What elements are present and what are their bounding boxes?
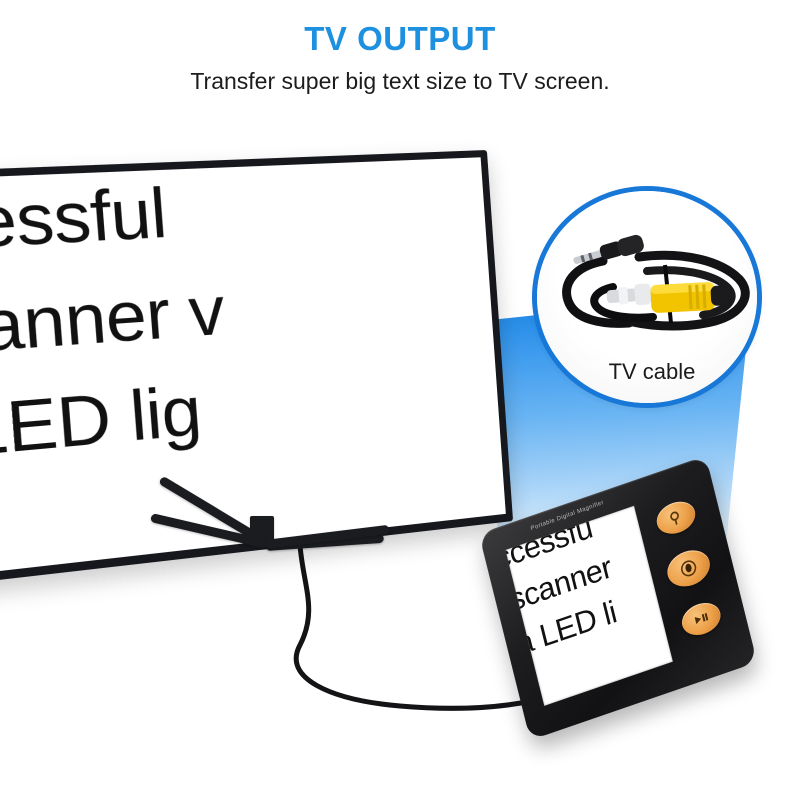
- play-pause-icon: [692, 610, 711, 629]
- page-subtitle: Transfer super big text size to TV scree…: [0, 69, 800, 94]
- tv-stand: [90, 516, 420, 606]
- magnifier-icon: [667, 507, 686, 528]
- tv-set: successful e scanner v ata LED lig: [0, 150, 520, 550]
- play-pause-button[interactable]: [679, 598, 724, 640]
- page-title: TV OUTPUT: [0, 22, 800, 57]
- callout-label: TV cable: [537, 359, 762, 385]
- tv-cable-callout: TV cable: [532, 186, 762, 408]
- header: TV OUTPUT Transfer super big text size t…: [0, 0, 800, 94]
- tv-cable-photo: [543, 227, 761, 352]
- color-mode-icon: [678, 557, 699, 580]
- color-mode-button[interactable]: [664, 545, 714, 592]
- product-marketing-image: TV OUTPUT Transfer super big text size t…: [0, 0, 800, 800]
- tv-screen-text: successful e scanner v ata LED lig: [0, 157, 506, 496]
